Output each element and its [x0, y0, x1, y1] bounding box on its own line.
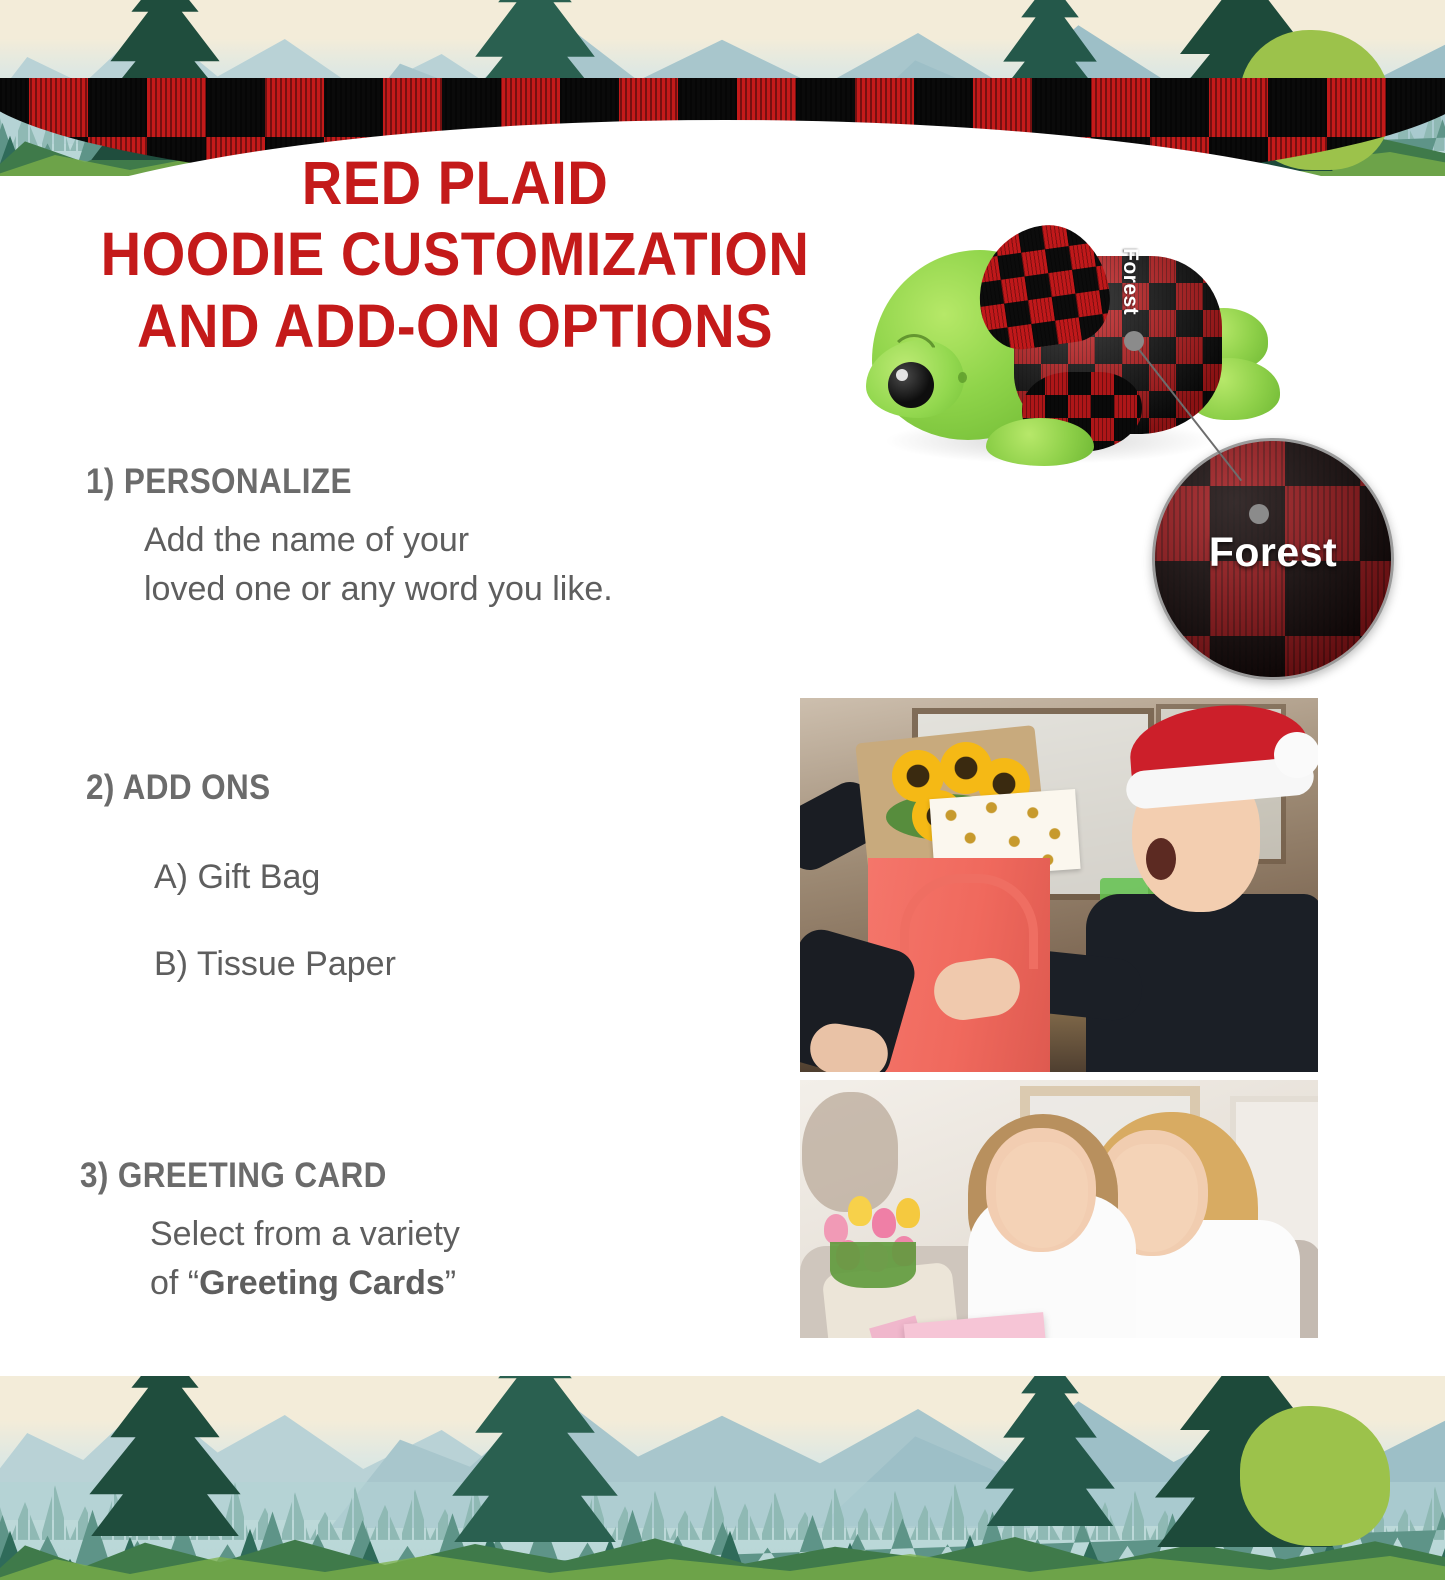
title-line-2: HOODIE CUSTOMIZATION — [36, 219, 873, 290]
embroidered-name: Forest — [1118, 248, 1142, 315]
addon-option-a: A) Gift Bag — [154, 858, 396, 897]
step-2-heading: 2) ADD ONS — [86, 768, 365, 808]
step-3-body: Select from a variety of “Greeting Cards… — [150, 1210, 460, 1309]
step-3-body-line-1: Select from a variety — [150, 1210, 460, 1259]
quote-prefix: of “ — [150, 1264, 199, 1302]
step-1-body-line-2: loved one or any word you like. — [144, 565, 613, 614]
step-1-body: Add the name of your loved one or any wo… — [144, 516, 613, 615]
tulip-icon — [872, 1208, 896, 1238]
tulip-stems — [830, 1242, 916, 1288]
greeting-cards-emphasis: Greeting Cards — [199, 1264, 445, 1302]
forest-scene-bottom — [0, 1376, 1445, 1580]
infographic-canvas: RED PLAID HOODIE CUSTOMIZATION AND ADD-O… — [0, 0, 1445, 1580]
boy-mouth — [1146, 838, 1176, 880]
plush-product-image: Forest — [866, 222, 1266, 484]
bottom-forest-banner — [0, 1376, 1445, 1580]
plush-nostril — [958, 372, 967, 383]
step-personalize: 1) PERSONALIZE Add the name of your love… — [86, 462, 613, 615]
shrub-icon — [1240, 1406, 1390, 1546]
magnifier-label: Forest — [1155, 529, 1391, 576]
addon-option-b: B) Tissue Paper — [154, 945, 396, 984]
santa-hat-pom — [1274, 732, 1318, 778]
page-title: RED PLAID HOODIE CUSTOMIZATION AND ADD-O… — [36, 148, 873, 362]
plaid-hood — [970, 218, 1115, 355]
tulip-icon — [848, 1196, 872, 1226]
step-add-ons: 2) ADD ONS A) Gift Bag B) Tissue Paper — [86, 768, 396, 984]
callout-dot-target — [1249, 504, 1269, 524]
quote-suffix: ” — [445, 1264, 456, 1302]
gift-bag-handle — [900, 874, 1038, 969]
title-line-3: AND ADD-ON OPTIONS — [36, 291, 873, 362]
step-greeting-card: 3) GREETING CARD Select from a variety o… — [80, 1156, 460, 1309]
daughter-face — [996, 1142, 1088, 1248]
title-line-1: RED PLAID — [36, 148, 873, 219]
callout-dot-source — [1124, 331, 1144, 351]
step-1-heading: 1) PERSONALIZE — [86, 462, 560, 502]
step-1-body-line-1: Add the name of your — [144, 516, 613, 565]
step-3-body-line-2: of “Greeting Cards” — [150, 1259, 460, 1308]
magnifier-callout: Forest — [1152, 438, 1394, 680]
plush-eye — [888, 362, 934, 408]
photo-gift-bag — [800, 698, 1318, 1072]
tulip-icon — [896, 1198, 920, 1228]
step-3-heading: 3) GREETING CARD — [80, 1156, 422, 1196]
